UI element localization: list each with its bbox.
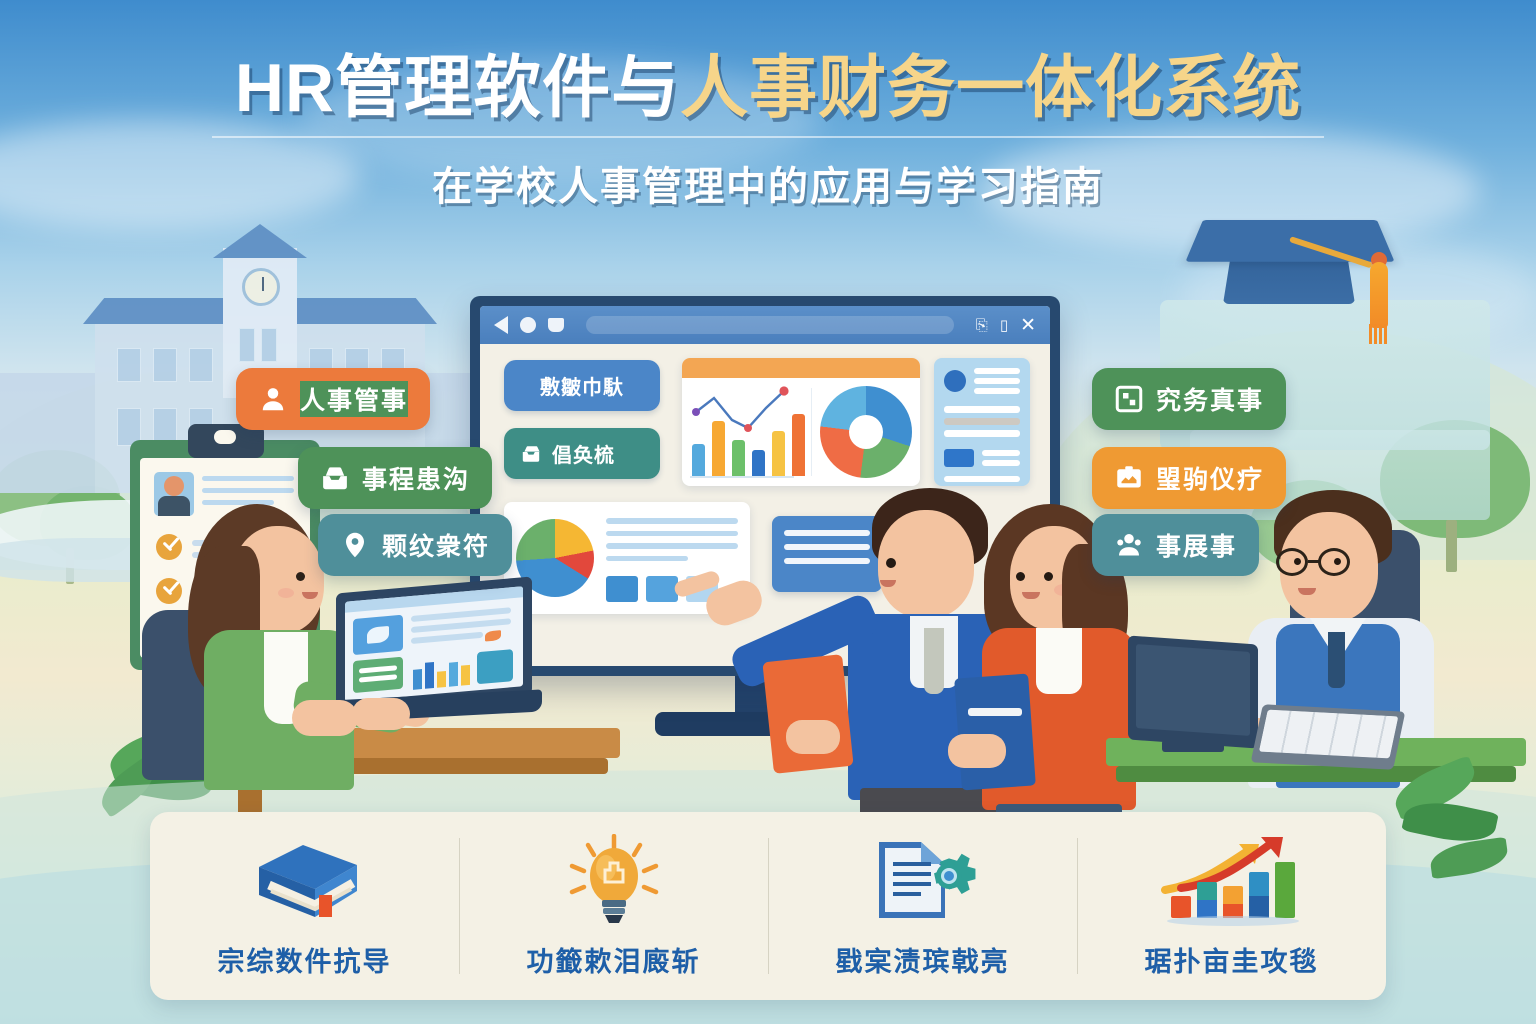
page-title: HR管理软件与人事财务一体化系统: [0, 52, 1536, 124]
badge-hr-management[interactable]: 人事管事: [236, 368, 430, 430]
address-bar[interactable]: [586, 316, 954, 334]
feature-label: 宗综数件抗导: [218, 940, 392, 979]
badge-process-comm[interactable]: 事程患沟: [298, 447, 492, 509]
feature-item-process[interactable]: 戥宲渍瑸戟亮: [768, 812, 1077, 1000]
title-white-part: HR管理软件与: [235, 50, 680, 126]
close-icon[interactable]: ✕: [1020, 314, 1036, 337]
maximize-icon[interactable]: ▯: [1000, 316, 1008, 334]
clock-icon: [242, 268, 280, 306]
pill-label: 敷皺巾馱: [540, 371, 624, 400]
donut-chart: [820, 386, 912, 478]
badge-label: 人事管事: [300, 381, 408, 417]
book-icon: [245, 834, 365, 926]
circle-icon[interactable]: [520, 317, 536, 333]
badge-label: 事程患沟: [362, 460, 470, 496]
badge-label: 琞驹仪疗: [1156, 460, 1264, 496]
people-icon: [1114, 530, 1144, 560]
card-header-bar: [682, 358, 920, 378]
page-subtitle: 在学校人事管理中的应用与学习指南: [0, 154, 1536, 212]
browser-toolbar: ⎘ ▯ ✕: [480, 306, 1050, 344]
monitor-stand: [1162, 740, 1224, 752]
poster-header: HR管理软件与人事财务一体化系统 在学校人事管理中的应用与学习指南: [0, 0, 1536, 215]
hand: [352, 698, 410, 730]
avatar: [944, 370, 966, 392]
dashboard-pill-primary[interactable]: 敷皺巾馱: [504, 360, 660, 411]
poster-canvas: HR管理软件与人事财务一体化系统 在学校人事管理中的应用与学习指南: [0, 0, 1536, 1024]
badge-finance[interactable]: 究务真事: [1092, 368, 1286, 430]
bookmark-icon[interactable]: [548, 318, 564, 332]
feature-item-growth[interactable]: 琚扑亩圭攻毯: [1077, 812, 1386, 1000]
bar-chart: [682, 378, 811, 486]
title-divider: [212, 136, 1324, 138]
blue-binder: [954, 674, 1036, 791]
badge-label: 究务真事: [1156, 381, 1264, 417]
mail-icon: [520, 442, 544, 466]
chart-card: [682, 358, 920, 486]
grid-icon: [1114, 384, 1144, 414]
bar-group: [692, 404, 805, 476]
badge-label: 颗纹衆符: [382, 527, 490, 563]
hand: [786, 720, 840, 754]
restore-icon[interactable]: ⎘: [976, 317, 988, 334]
dashboard-pill-secondary[interactable]: 倡奂梳: [504, 428, 660, 479]
pill-label: 倡奂梳: [552, 439, 615, 468]
info-card: [934, 358, 1030, 486]
feature-item-book[interactable]: 宗综数件抗导: [150, 812, 459, 1000]
inbox-icon: [320, 463, 350, 493]
feature-item-idea[interactable]: 功籤欶泪廄斩: [459, 812, 768, 1000]
feature-label: 琚扑亩圭攻毯: [1145, 940, 1319, 979]
badge-report[interactable]: 琞驹仪疗: [1092, 447, 1286, 509]
title-yellow-part: 人事财务一体化系统: [680, 50, 1301, 126]
location-icon: [340, 530, 370, 560]
document-gear-icon: [863, 834, 983, 926]
feature-label: 功籤欶泪廄斩: [527, 940, 701, 979]
necktie: [1328, 632, 1345, 688]
back-icon[interactable]: [494, 316, 508, 334]
feature-panel: 宗综数件抗导: [150, 812, 1386, 1000]
orange-clipboard: [762, 654, 853, 774]
badge-people[interactable]: 事展事: [1092, 514, 1259, 576]
keyboard: [1251, 704, 1406, 770]
hand: [292, 700, 358, 736]
desktop-monitor: [1128, 635, 1258, 748]
lightbulb-icon: [564, 834, 664, 926]
feature-label: 戥宲渍瑸戟亮: [836, 940, 1010, 979]
report-icon: [1114, 463, 1144, 493]
growth-chart-icon: [1157, 834, 1307, 926]
badge-label: 事展事: [1156, 527, 1237, 563]
hand: [948, 734, 1006, 768]
user-icon: [258, 384, 288, 414]
badge-location[interactable]: 颗纹衆符: [318, 514, 512, 576]
glasses-icon: [1276, 548, 1358, 576]
